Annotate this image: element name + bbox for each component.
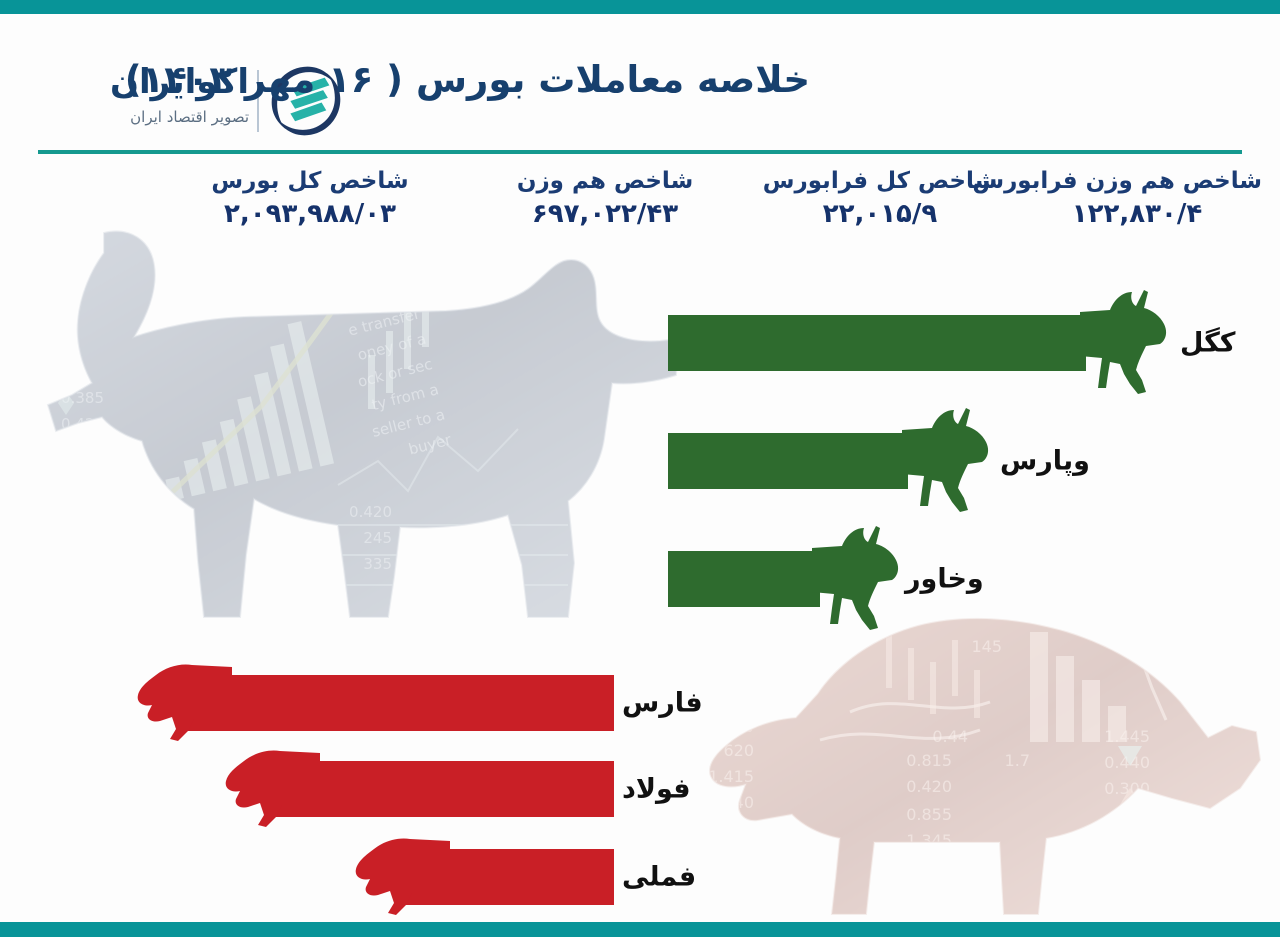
index-label: شاخص کل فرابورس <box>755 166 1005 196</box>
index-summary-strip: شاخص کل بورس ۲,۰۹۳,۹۸۸/۰۳ شاخص هم وزن ۶۹… <box>0 166 1280 256</box>
bar-negative-1[interactable] <box>272 761 614 817</box>
infographic-page: اکوایران تصویر اقتصاد ایران خلاصه معاملا… <box>0 0 1280 937</box>
bear-icon <box>136 657 232 749</box>
top-accent-bar <box>0 0 1280 14</box>
index-label: شاخص کل بورس <box>160 166 460 196</box>
logo-tagline: تصویر اقتصاد ایران <box>130 108 249 126</box>
chart-row-negative-0: فارس <box>0 668 1280 738</box>
bear-icon <box>354 831 450 923</box>
index-value: ۲۲,۰۱۵/۹ <box>755 196 1005 232</box>
index-label: شاخص هم وزن <box>475 166 735 196</box>
bull-icon <box>812 524 902 634</box>
index-card-0: شاخص کل بورس ۲,۰۹۳,۹۸۸/۰۳ <box>160 166 460 232</box>
index-card-3: شاخص هم وزن فرابورس ۱۲۲,۸۳۰/۴ <box>1012 166 1262 232</box>
header-divider <box>38 150 1242 154</box>
index-card-2: شاخص کل فرابورس ۲۲,۰۱۵/۹ <box>755 166 1005 232</box>
bar-negative-0[interactable] <box>184 675 614 731</box>
bar-positive-1[interactable] <box>668 433 908 489</box>
index-label: شاخص هم وزن فرابورس <box>1012 166 1262 196</box>
bull-icon <box>902 406 992 516</box>
impact-bar-chart: کگل وپارس وخاور <box>0 256 1280 916</box>
chart-row-positive-1: وپارس <box>0 426 1280 496</box>
bottom-accent-bar <box>0 922 1280 937</box>
chart-row-positive-2: وخاور <box>0 544 1280 614</box>
bar-label-positive-2: وخاور <box>905 564 984 595</box>
bar-positive-0[interactable] <box>668 315 1086 371</box>
bear-icon <box>224 743 320 835</box>
index-value: ۱۲۲,۸۳۰/۴ <box>1012 196 1262 232</box>
page-title: خلاصه معاملات بورس ( ۱۶ مهر ۱۴۰۳) <box>125 58 810 101</box>
chart-row-negative-1: فولاد <box>0 754 1280 824</box>
index-value: ۶۹۷,۰۲۲/۴۳ <box>475 196 735 232</box>
bar-label-positive-0: کگل <box>1180 328 1236 359</box>
bull-icon <box>1080 288 1170 398</box>
bar-label-negative-0: فارس <box>622 688 703 719</box>
header: اکوایران تصویر اقتصاد ایران خلاصه معاملا… <box>0 14 1280 148</box>
chart-row-negative-2: فملی <box>0 842 1280 912</box>
chart-row-positive-0: کگل <box>0 308 1280 378</box>
bar-label-positive-1: وپارس <box>1000 446 1090 477</box>
bar-positive-2[interactable] <box>668 551 820 607</box>
index-card-1: شاخص هم وزن ۶۹۷,۰۲۲/۴۳ <box>475 166 735 232</box>
bar-label-negative-2: فملی <box>622 862 696 893</box>
index-value: ۲,۰۹۳,۹۸۸/۰۳ <box>160 196 460 232</box>
bar-label-negative-1: فولاد <box>622 774 691 805</box>
